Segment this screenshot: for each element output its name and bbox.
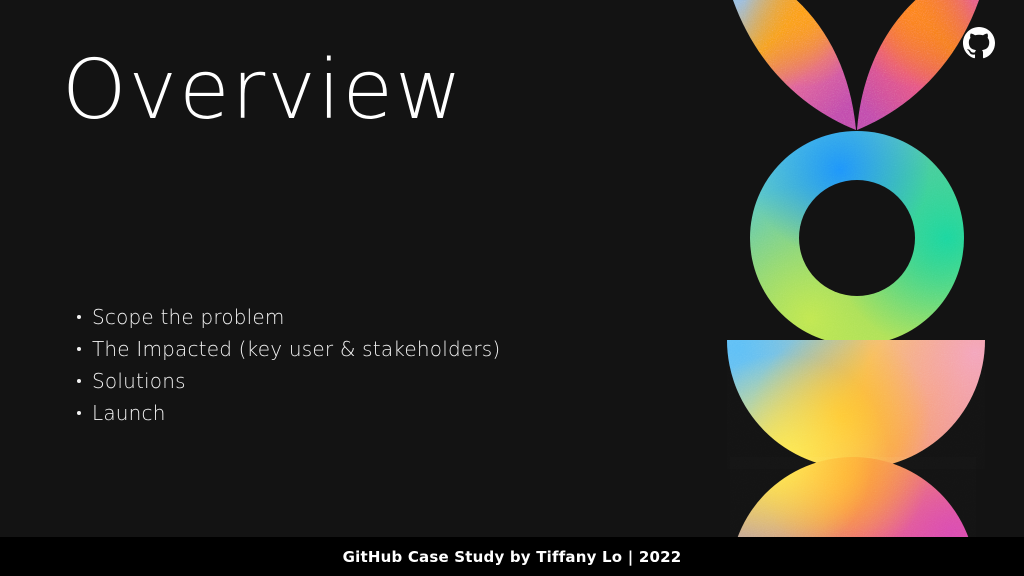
gradient-bowl-shape (727, 340, 985, 469)
page-title: Overview (62, 48, 464, 134)
gradient-ring-shape (750, 131, 964, 345)
list-item: Solutions (74, 370, 500, 392)
dome-grain-texture (730, 457, 976, 537)
list-item-label: Scope the problem (92, 305, 285, 329)
bullet-dot-icon (77, 347, 81, 351)
decorative-graphic-stack (700, 0, 1024, 537)
list-item: The Impacted (key user & stakeholders) (74, 338, 500, 360)
list-item-label: The Impacted (key user & stakeholders) (92, 337, 500, 361)
gradient-dome-shape (730, 457, 976, 537)
list-item: Launch (74, 402, 500, 424)
footer-caption: GitHub Case Study by Tiffany Lo | 2022 (343, 548, 682, 566)
bullet-dot-icon (77, 411, 81, 415)
bullet-dot-icon (77, 379, 81, 383)
list-item-label: Solutions (92, 369, 186, 393)
bowl-grain-texture (727, 340, 985, 469)
ring-inner-hole (799, 180, 915, 296)
dual-petal-gradient-shape (700, 0, 1024, 136)
slide-overview: Overview Scope the problem The Impacted … (0, 0, 1024, 576)
overview-bullet-list: Scope the problem The Impacted (key user… (74, 306, 500, 424)
bullet-dot-icon (77, 315, 81, 319)
github-octocat-logo (963, 27, 995, 59)
footer-bar: GitHub Case Study by Tiffany Lo | 2022 (0, 537, 1024, 576)
list-item-label: Launch (92, 401, 166, 425)
list-item: Scope the problem (74, 306, 500, 328)
